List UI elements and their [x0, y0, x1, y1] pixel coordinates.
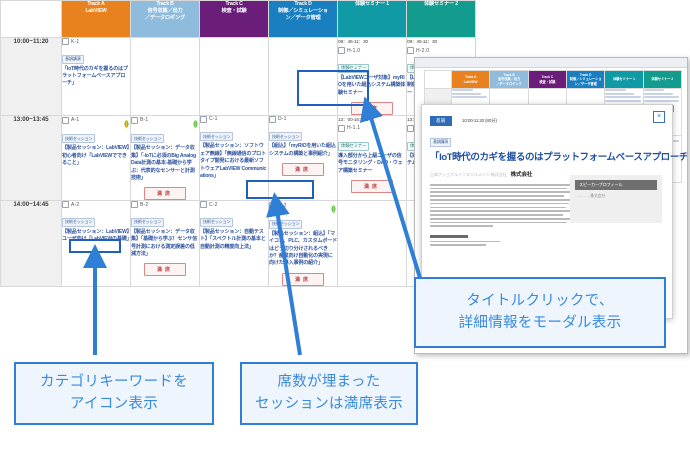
- session-checkbox[interactable]: [200, 116, 207, 123]
- session-checkbox[interactable]: [338, 125, 345, 132]
- mini-track-header-seminar1: 体験セミナー 1: [605, 71, 643, 89]
- session-time-header: 13：00-16：45: [338, 116, 406, 123]
- schedule-table-container: Track A LabVIEW Track B 信号収集／出力 ／データロギング…: [0, 0, 476, 345]
- session-code: B-1: [140, 117, 148, 123]
- session-cell[interactable]: A-2技術セッション【製品セッション：LabVIEW】ユーザ向け「LabVIEW…: [62, 201, 131, 286]
- session-cell[interactable]: C-1技術セッション【製品セッション：ソフトウェア無線】「無線通信のプロトタイプ…: [200, 115, 269, 200]
- session-cell[interactable]: D-2技術セッション【製品セッション：組込】「マイコン、PLC、カスタムボードは…: [269, 201, 338, 286]
- session-cell-empty: [269, 38, 338, 116]
- session-cell-empty: [131, 38, 200, 116]
- leaf-icon: [123, 116, 130, 125]
- session-code-row: H-2.0: [407, 47, 475, 54]
- session-code: A-1: [71, 117, 79, 123]
- session-cell-empty: [338, 201, 407, 286]
- seminar-badge: 体験セミナー: [338, 64, 369, 73]
- session-code-row: D-2: [269, 201, 337, 210]
- mini-track-header-b: Track B 信号収集／出力 ／データロギング: [490, 71, 528, 89]
- session-checkbox[interactable]: [269, 202, 276, 209]
- annotation-keyword-line2: アイコン表示: [16, 394, 212, 415]
- session-title-link[interactable]: 【製品セッション：LabVIEW】初心者向け「LabVIEWでできること」: [62, 145, 130, 167]
- session-code: D-1: [278, 116, 287, 122]
- session-checkbox[interactable]: [62, 201, 69, 208]
- time-label: 10:00~11:20: [1, 38, 62, 116]
- session-code: H-2.0: [416, 48, 429, 54]
- session-code: H-1.0: [347, 48, 360, 54]
- modal-category-row: 基調講演: [430, 130, 664, 148]
- full-seats-badge: 満席: [351, 102, 393, 115]
- session-code: A-2: [71, 202, 79, 208]
- mini-header-row: Track A LabVIEW Track B 信号収集／出力 ／データロギング…: [425, 71, 682, 89]
- session-cell[interactable]: K-1基調講演「IoT時代のカギを握るのはプラットフォームベースアプローチ」: [62, 38, 131, 116]
- category-keyword-badge: 技術セッション: [62, 218, 95, 227]
- category-keyword-badge: 技術セッション: [131, 134, 164, 143]
- mini-track-header-d: Track D 制御／シミュレーショ ン／データ管理: [566, 71, 604, 89]
- seminar-badge: 体験セミナー: [338, 142, 369, 151]
- track-header-d-label: Track D 制御／シミュレーショ ン／データ管理: [278, 1, 328, 21]
- session-code-row: K-1: [62, 38, 130, 45]
- session-cell[interactable]: C-2技術セッション【製品セッション：自動テスト】「スペクトル計測の基本と自動計…: [200, 201, 269, 286]
- modal-description-text: [430, 184, 570, 227]
- session-title-link[interactable]: 【製品セッション：自動テスト】「スペクトル計測の基本と自動計測の精度向上法」: [200, 229, 268, 251]
- session-code-row: C-2: [200, 201, 268, 208]
- session-checkbox[interactable]: [200, 201, 207, 208]
- speaker-name: 株式会社: [511, 170, 533, 178]
- session-title-link[interactable]: 「IoT時代のカギを握るのはプラットフォームベースアプローチ」: [62, 66, 130, 88]
- session-checkbox[interactable]: [338, 47, 345, 54]
- annotation-modal-line1: タイトルクリックで、: [416, 291, 664, 312]
- session-title-link[interactable]: 【製品セッション：ソフトウェア無線】「無線通信のプロトタイプ開発における最新ソフ…: [200, 143, 268, 180]
- modal-session-title: 「IoT時代のカギを握るのはプラットフォームベースアプローチ」: [430, 152, 664, 164]
- session-cell[interactable]: B-1技術セッション【製品セッション：データ収集】「-IoTに必須のBig An…: [131, 115, 200, 200]
- annotation-full-line2: セッションは満席表示: [242, 394, 416, 415]
- category-keyword-badge: 技術セッション: [131, 218, 164, 227]
- session-code-row: H-1.0: [338, 47, 406, 54]
- session-title-link[interactable]: 導入部分から上級ユーザの信号モニタリング・DAQ・ウェア構築セミナー: [338, 153, 406, 175]
- time-label: 13:00~13:45: [1, 115, 62, 200]
- category-keyword-badge: 技術セッション: [269, 220, 302, 229]
- session-type-pill: 基調: [430, 116, 452, 126]
- session-code: D-2: [278, 203, 287, 209]
- session-time-header: 09：45-11：30: [338, 38, 406, 45]
- annotation-modal-display: タイトルクリックで、 詳細情報をモーダル表示: [414, 277, 666, 348]
- full-seats-badge: 満席: [282, 163, 324, 176]
- session-checkbox[interactable]: [131, 201, 138, 208]
- mini-track-c-label: Track C 検査・試験: [539, 75, 555, 83]
- schedule-body: 10:00~11:20K-1基調講演「IoT時代のカギを握るのはプラットフォーム…: [1, 38, 476, 287]
- track-header-seminar1-label: 体験セミナー 1: [355, 1, 389, 7]
- session-code: B-2: [140, 202, 148, 208]
- category-badge: 基調講演: [430, 138, 451, 147]
- session-code-row: C-1: [200, 116, 268, 123]
- session-code-row: B-1: [131, 116, 199, 125]
- annotation-modal-line2: 詳細情報をモーダル表示: [416, 313, 664, 334]
- track-header-c: Track C 検査・試験: [200, 1, 269, 38]
- session-title-link[interactable]: 【製品セッション：データ収集】「-IoTに必須のBig Analog Data計…: [131, 145, 199, 182]
- category-keyword-badge: 基調講演: [62, 55, 84, 64]
- track-header-b-label: Track B 信号収集／出力 ／データロギング: [145, 1, 185, 21]
- session-code: C-2: [209, 202, 218, 208]
- track-header-seminar2: 体験セミナー 2: [407, 1, 476, 38]
- session-code: K-1: [71, 39, 79, 45]
- speaker-profile-panel: スピーカープロフィール …………株式会社: [570, 175, 662, 223]
- track-header-d: Track D 制御／シミュレーショ ン／データ管理: [269, 1, 338, 38]
- annotation-full-line1: 席数が埋まった: [242, 372, 416, 393]
- leaf-icon: [192, 116, 199, 125]
- speaker-org: 日本ナショナルインスツルメンツ 株式会社: [430, 172, 507, 178]
- session-time-header: 09：45-11：30: [407, 38, 475, 45]
- session-time: 10:00-11:20 (80分): [462, 118, 497, 124]
- session-checkbox[interactable]: [269, 116, 276, 123]
- track-header-b: Track B 信号収集／出力 ／データロギング: [131, 1, 200, 38]
- table-corner-cell: [1, 1, 62, 38]
- mini-track-header-c: Track C 検査・試験: [528, 71, 566, 89]
- browser-titlebar: [415, 58, 687, 68]
- mini-track-a-label: Track A LabVIEW: [464, 75, 478, 83]
- session-code: H-1.1: [347, 125, 360, 131]
- session-cell[interactable]: D-1技術セッション【組込】「myRIOを用いた組込システムの構築と事例紹介」満…: [269, 115, 338, 200]
- track-header-a: Track A LabVIEW: [62, 1, 131, 38]
- session-checkbox[interactable]: [62, 117, 69, 124]
- session-cell[interactable]: 09：45-11：30H-1.0体験セミナー【LabVIEWユーザ対象】myRI…: [338, 38, 407, 116]
- track-header-a-label: Track A LabVIEW: [85, 1, 106, 14]
- speaker-profile-header: スピーカープロフィール: [575, 180, 657, 190]
- category-keyword-badge: 技術セッション: [269, 132, 302, 141]
- session-code: C-1: [209, 116, 218, 122]
- session-code-row: D-1: [269, 116, 337, 123]
- session-title-link[interactable]: 【LabVIEWユーザ対象】myRIOを用いた組込システム構築体験セミナー: [338, 75, 406, 97]
- track-header-seminar1: 体験セミナー 1: [338, 1, 407, 38]
- track-header-c-label: Track C 検査・試験: [222, 1, 247, 14]
- schedule-table: Track A LabVIEW Track B 信号収集／出力 ／データロギング…: [0, 0, 476, 287]
- session-checkbox[interactable]: [407, 125, 414, 132]
- category-keyword-badge: 技術セッション: [200, 132, 233, 141]
- category-keyword-badge: 技術セッション: [200, 218, 233, 227]
- session-code-row: B-2: [131, 201, 199, 208]
- session-title-link[interactable]: 【製品セッション：組込】「マイコン、PLC、カスタムボードはどう切り分けされるべ…: [269, 231, 337, 268]
- session-checkbox[interactable]: [407, 47, 414, 54]
- schedule-row: 13:00~13:45A-1技術セッション【製品セッション：LabVIEW】初心…: [1, 115, 476, 200]
- schedule-row: 10:00~11:20K-1基調講演「IoT時代のカギを握るのはプラットフォーム…: [1, 38, 476, 116]
- session-checkbox[interactable]: [62, 38, 69, 45]
- annotation-keyword-line1: カテゴリキーワードを: [16, 372, 212, 393]
- category-keyword-badge: 技術セッション: [62, 134, 95, 143]
- modal-header: 基調 10:00-11:20 (80分): [430, 112, 664, 130]
- session-cell-empty: [200, 38, 269, 116]
- close-icon[interactable]: ×: [653, 111, 665, 123]
- modal-notes: [430, 235, 500, 246]
- session-checkbox[interactable]: [131, 117, 138, 124]
- session-cell[interactable]: A-1技術セッション【製品セッション：LabVIEW】初心者向け「LabVIEW…: [62, 115, 131, 200]
- session-title-link[interactable]: 【製品セッション：データ収集】「基礎から学ぶ！センサ信号計測における測定誤差の低…: [131, 229, 199, 259]
- session-code-row: A-1: [62, 116, 130, 125]
- mini-track-seminar2-label: 体験セミナー 2: [651, 77, 673, 81]
- track-header-seminar2-label: 体験セミナー 2: [424, 1, 458, 7]
- annotation-keyword-icon: カテゴリキーワードを アイコン表示: [14, 362, 214, 425]
- full-seats-badge: 満席: [282, 273, 324, 286]
- leaf-icon: [330, 201, 337, 210]
- session-title-link[interactable]: 【組込】「myRIOを用いた組込システムの構築と事例紹介」: [269, 143, 337, 158]
- full-seats-badge: 満席: [144, 263, 186, 276]
- session-cell[interactable]: B-2技術セッション【製品セッション：データ収集】「基礎から学ぶ！センサ信号計測…: [131, 201, 200, 286]
- mini-track-header-seminar2: 体験セミナー 2: [643, 71, 681, 89]
- full-seats-badge: 満席: [351, 180, 393, 193]
- mini-track-d-label: Track D 制御／シミュレーショ ン／データ管理: [570, 73, 602, 85]
- session-code-row: H-1.1: [338, 125, 406, 132]
- session-code-row: A-2: [62, 201, 130, 208]
- schedule-header-row: Track A LabVIEW Track B 信号収集／出力 ／データロギング…: [1, 1, 476, 38]
- speaker-profile-subtitle: …………株式会社: [575, 194, 657, 199]
- annotation-full-seats: 席数が埋まった セッションは満席表示: [240, 362, 418, 425]
- mini-corner-cell: [425, 71, 452, 89]
- mini-track-header-a: Track A LabVIEW: [452, 71, 490, 89]
- schedule-row: 14:00~14:45A-2技術セッション【製品セッション：LabVIEW】ユー…: [1, 201, 476, 286]
- full-seats-badge: 満席: [144, 187, 186, 200]
- time-label: 14:00~14:45: [1, 201, 62, 286]
- session-title-link[interactable]: 【製品セッション：LabVIEW】ユーザ向け「LabVIEWの基礎」: [62, 229, 130, 244]
- mini-track-seminar1-label: 体験セミナー 1: [613, 77, 635, 81]
- mini-track-b-label: Track B 信号収集／出力 ／データロギング: [496, 73, 522, 85]
- session-cell[interactable]: 13：00-16：45H-1.1体験セミナー導入部分から上級ユーザの信号モニタリ…: [338, 115, 407, 200]
